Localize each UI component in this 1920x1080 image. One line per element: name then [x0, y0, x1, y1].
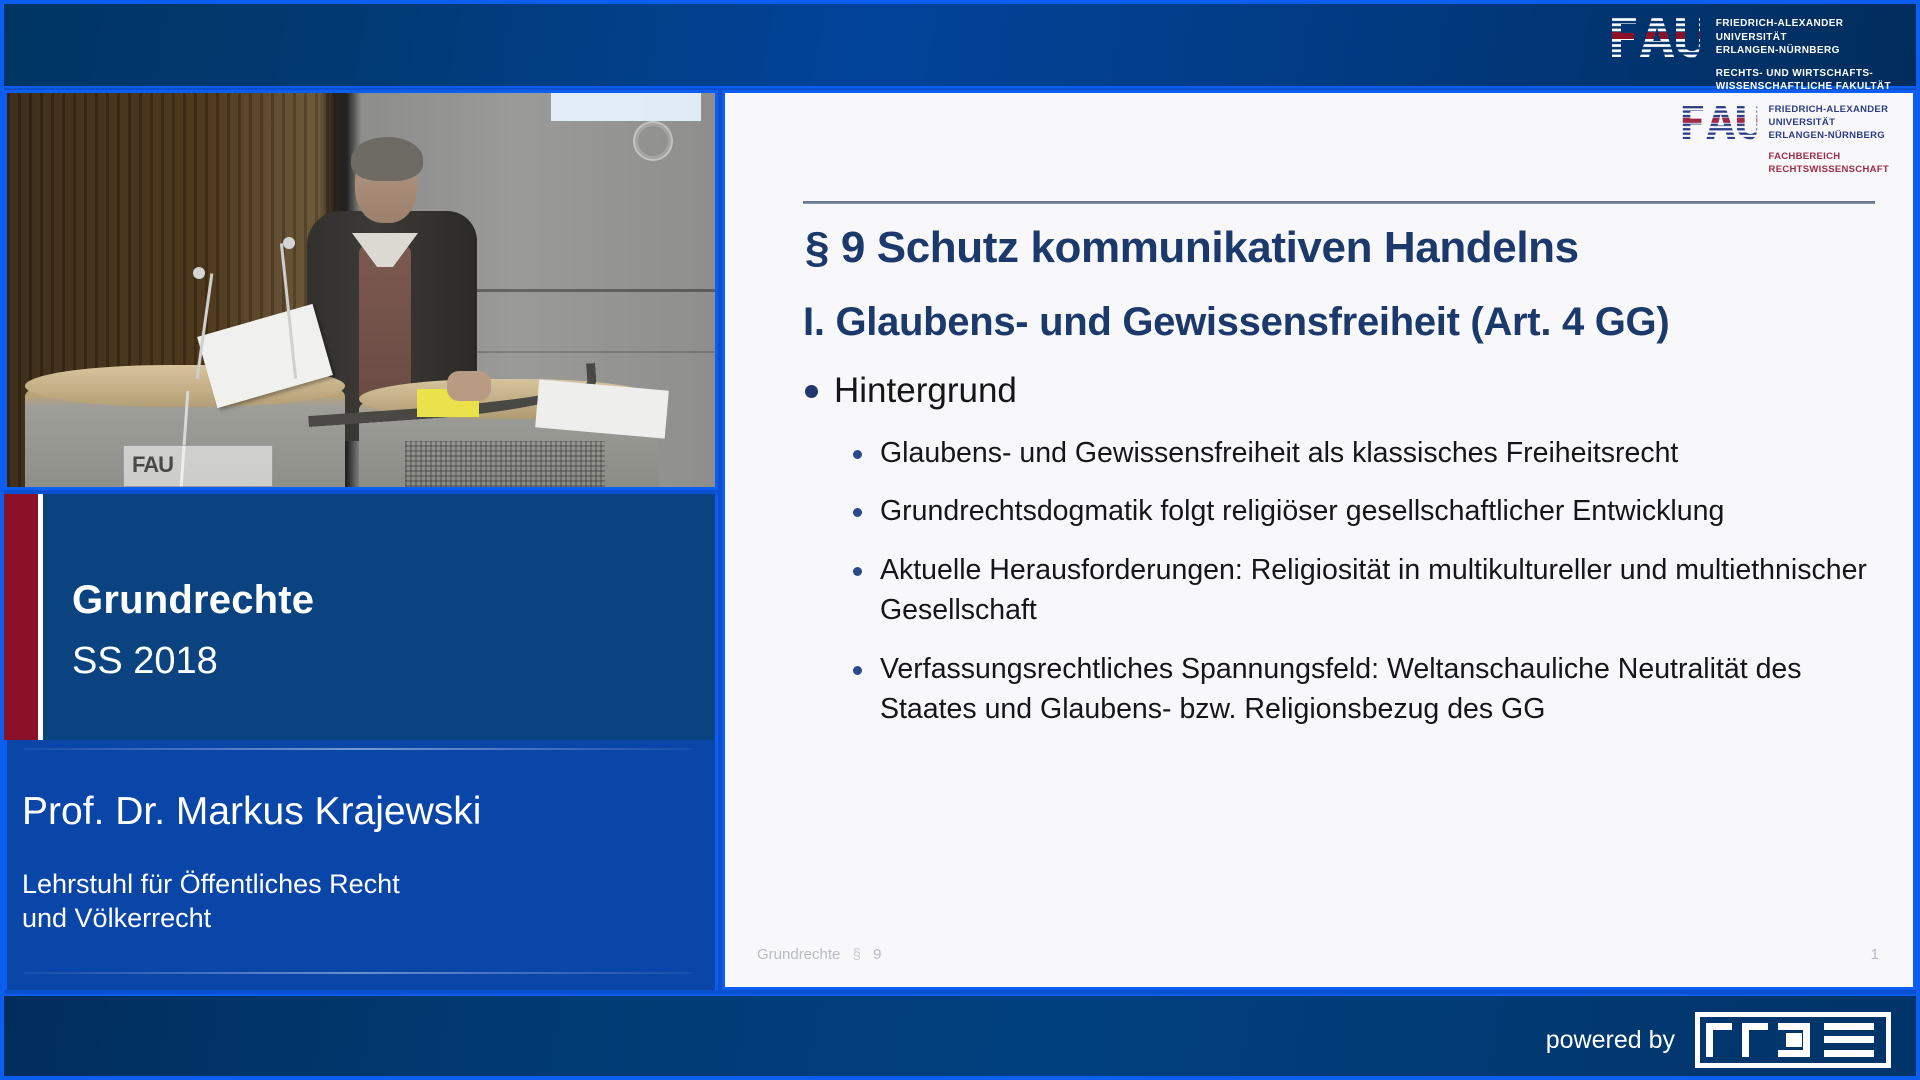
slide-uni-line1: FRIEDRICH-ALEXANDER — [1769, 104, 1889, 117]
presenter-info-panel — [4, 740, 718, 990]
speaker-hand — [447, 371, 491, 401]
divider-top — [24, 748, 692, 750]
list-item: Aktuelle Herausforderungen: Religiosität… — [853, 550, 1873, 631]
faculty-line1: RECHTS- UND WIRTSCHAFTS- — [1716, 67, 1891, 81]
fau-header-logo: FRIEDRICH-ALEXANDER UNIVERSITÄT ERLANGEN… — [1610, 13, 1891, 94]
slide-view[interactable]: FRIEDRICH-ALEXANDER UNIVERSITÄT ERLANGEN… — [722, 90, 1916, 990]
divider-bottom — [24, 972, 692, 974]
accent-bar-white — [38, 494, 43, 760]
microphone-head-1 — [193, 267, 205, 279]
slide-dept-line2: RECHTSWISSENSCHAFT — [1769, 164, 1889, 177]
bullet-dot-icon — [805, 385, 818, 398]
list-item: Verfassungsrechtliches Spannungsfeld: We… — [853, 649, 1873, 730]
list-item: Grundrechtsdogmatik folgt religiöser ges… — [853, 491, 1873, 531]
speaker-hair — [351, 137, 423, 181]
uni-name-line1: FRIEDRICH-ALEXANDER — [1716, 17, 1891, 31]
slide-uni-line3: ERLANGEN-NÜRNBERG — [1769, 130, 1889, 143]
course-semester: SS 2018 — [72, 640, 218, 683]
bullet-dot-icon — [853, 666, 862, 675]
bullet-level2-text: Glaubens- und Gewissensfreiheit als klas… — [880, 433, 1678, 473]
player-root: FRIEDRICH-ALEXANDER UNIVERSITÄT ERLANGEN… — [0, 0, 1920, 1080]
lectern-grille — [405, 441, 605, 487]
lectern-fau-plate — [123, 445, 273, 487]
fau-slide-logo-text: FRIEDRICH-ALEXANDER UNIVERSITÄT ERLANGEN… — [1769, 101, 1889, 177]
projection-screen — [551, 93, 701, 121]
uni-name-line3: ERLANGEN-NÜRNBERG — [1716, 44, 1891, 58]
slide-heading: § 9 Schutz kommunikativen Handelns — [805, 223, 1579, 273]
bullet-level2-list: Glaubens- und Gewissensfreiheit als klas… — [853, 433, 1873, 748]
slide-subheading: I. Glaubens- und Gewissensfreiheit (Art.… — [803, 300, 1669, 345]
bullet-dot-icon — [853, 450, 862, 459]
wall-emblem-icon — [633, 121, 673, 161]
slide-page-number: 1 — [1871, 946, 1879, 963]
bullet-level1: Hintergrund — [805, 371, 1865, 411]
page-footer: powered by — [0, 994, 1920, 1080]
rrze-logo-icon — [1695, 1012, 1891, 1068]
presenter-affiliation: Lehrstuhl für Öffentliches Recht und Völ… — [22, 868, 400, 936]
bullet-level1-text: Hintergrund — [834, 371, 1017, 411]
list-item: Glaubens- und Gewissensfreiheit als klas… — [853, 433, 1873, 473]
lecture-video[interactable] — [4, 90, 718, 490]
slide-footer-course: Grundrechte — [757, 946, 840, 963]
slide-footer-section: 9 — [873, 946, 881, 963]
slide-footer: Grundrechte § 9 — [757, 946, 881, 963]
accent-bar-red — [4, 494, 38, 760]
affiliation-line-2: und Völkerrecht — [22, 902, 400, 936]
fau-wordmark-icon — [1610, 13, 1702, 61]
fau-header-logo-text: FRIEDRICH-ALEXANDER UNIVERSITÄT ERLANGEN… — [1716, 13, 1891, 94]
slide-dept-line1: FACHBEREICH — [1769, 151, 1889, 164]
slide-header-rule — [803, 201, 1875, 204]
course-title: Grundrechte — [72, 578, 314, 623]
bullet-dot-icon — [853, 508, 862, 517]
slide-footer-separator: § — [853, 946, 861, 963]
slide-uni-line2: UNIVERSITÄT — [1769, 117, 1889, 130]
bullet-level2-text: Verfassungsrechtliches Spannungsfeld: We… — [880, 649, 1873, 730]
presenter-name: Prof. Dr. Markus Krajewski — [22, 790, 481, 834]
bullet-level2-text: Grundrechtsdogmatik folgt religiöser ges… — [880, 491, 1724, 531]
affiliation-line-1: Lehrstuhl für Öffentliches Recht — [22, 868, 400, 902]
page-header: FRIEDRICH-ALEXANDER UNIVERSITÄT ERLANGEN… — [0, 0, 1920, 88]
microphone-head-2 — [283, 237, 295, 249]
fau-wordmark-icon-slide — [1681, 101, 1759, 143]
bullet-level2-text: Aktuelle Herausforderungen: Religiosität… — [880, 550, 1873, 631]
fau-slide-logo: FRIEDRICH-ALEXANDER UNIVERSITÄT ERLANGEN… — [1681, 101, 1889, 177]
powered-by-label: powered by — [1546, 1026, 1675, 1055]
uni-name-line2: UNIVERSITÄT — [1716, 31, 1891, 45]
bullet-dot-icon — [853, 567, 862, 576]
